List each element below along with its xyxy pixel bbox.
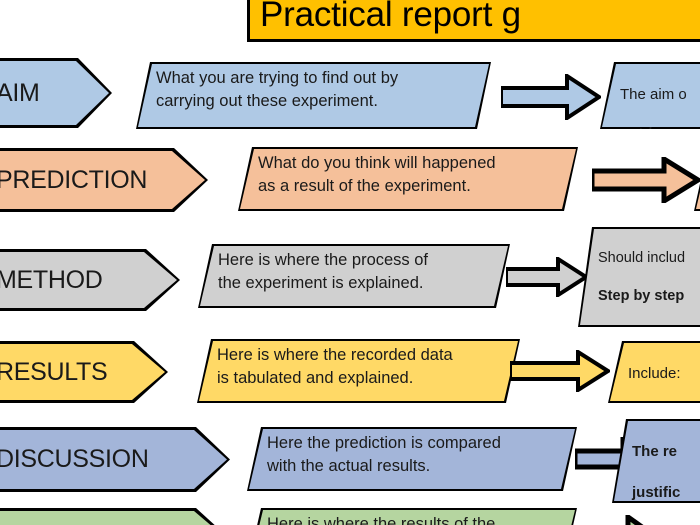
method-detail-line3-red: de [670,327,687,343]
poster-canvas: Practical report g AIM What you are tryi… [0,0,700,525]
stage-label-prediction-text: PREDICTION [0,166,147,195]
conclusion-description-box[interactable]: Here is where the results of the [247,508,577,525]
stage-label-method[interactable]: METHOD [0,249,180,311]
aim-detail-box[interactable]: The aim o out / com [600,62,700,129]
prediction-description-box[interactable]: What do you think will happened as a res… [238,147,578,211]
prediction-arrow-icon [592,157,700,203]
discussion-detail-line2: justific [632,484,680,501]
aim-description-text: What you are trying to find out by carry… [136,62,491,113]
aim-detail-line1: The aim o [620,86,687,103]
page-title-banner: Practical report g [247,0,700,42]
aim-detail-line2: out / com [620,125,687,142]
discussion-detail-line1: The re [632,443,677,460]
results-arrow-icon [510,350,610,392]
results-description-box[interactable]: Here is where the recorded data is tabul… [197,339,520,403]
stage-label-aim[interactable]: AIM [0,58,112,128]
stage-label-discussion[interactable]: DISCUSSION [0,427,230,492]
results-detail-line1: Include: [628,365,681,382]
prediction-detail-text [694,147,700,150]
method-detail-box[interactable]: Should includ Step by step variables (de… [578,227,700,327]
stage-label-discussion-text: DISCUSSION [0,445,149,474]
conclusion-arrow-icon [580,515,658,525]
prediction-description-text: What do you think will happened as a res… [238,147,578,198]
results-detail-line2: results sh [628,404,699,421]
stage-label-conclusion-fill [0,508,230,525]
page-title: Practical report g [260,0,521,32]
stage-label-results-text: RESULTS [0,358,107,387]
results-detail-text: Include: results sh [608,341,700,422]
stage-label-aim-text: AIM [0,79,40,108]
aim-detail-text: The aim o out / com [600,62,700,143]
stage-label-prediction[interactable]: PREDICTION [0,148,208,212]
method-detail-line3: variables ( [598,327,670,343]
method-description-text: Here is where the process of the experim… [198,244,510,295]
method-detail-line2: Step by step [598,288,684,304]
discussion-detail-box[interactable]: The re justific be th [612,419,700,503]
discussion-detail-text: The re justific be th [612,419,700,525]
method-arrow-icon [506,257,588,297]
discussion-description-box[interactable]: Here the prediction is compared with the… [247,427,577,491]
aim-arrow-icon [501,74,601,120]
conclusion-description-text: Here is where the results of the [247,508,577,525]
method-description-box[interactable]: Here is where the process of the experim… [198,244,510,308]
aim-description-box[interactable]: What you are trying to find out by carry… [136,62,491,129]
results-detail-box[interactable]: Include: results sh [608,341,700,403]
discussion-description-text: Here the prediction is compared with the… [247,427,577,478]
results-description-text: Here is where the recorded data is tabul… [197,339,520,390]
stage-label-conclusion[interactable] [0,508,230,525]
stage-label-method-text: METHOD [0,266,103,295]
stage-label-results[interactable]: RESULTS [0,341,168,403]
method-detail-line1: Should includ [598,250,685,266]
